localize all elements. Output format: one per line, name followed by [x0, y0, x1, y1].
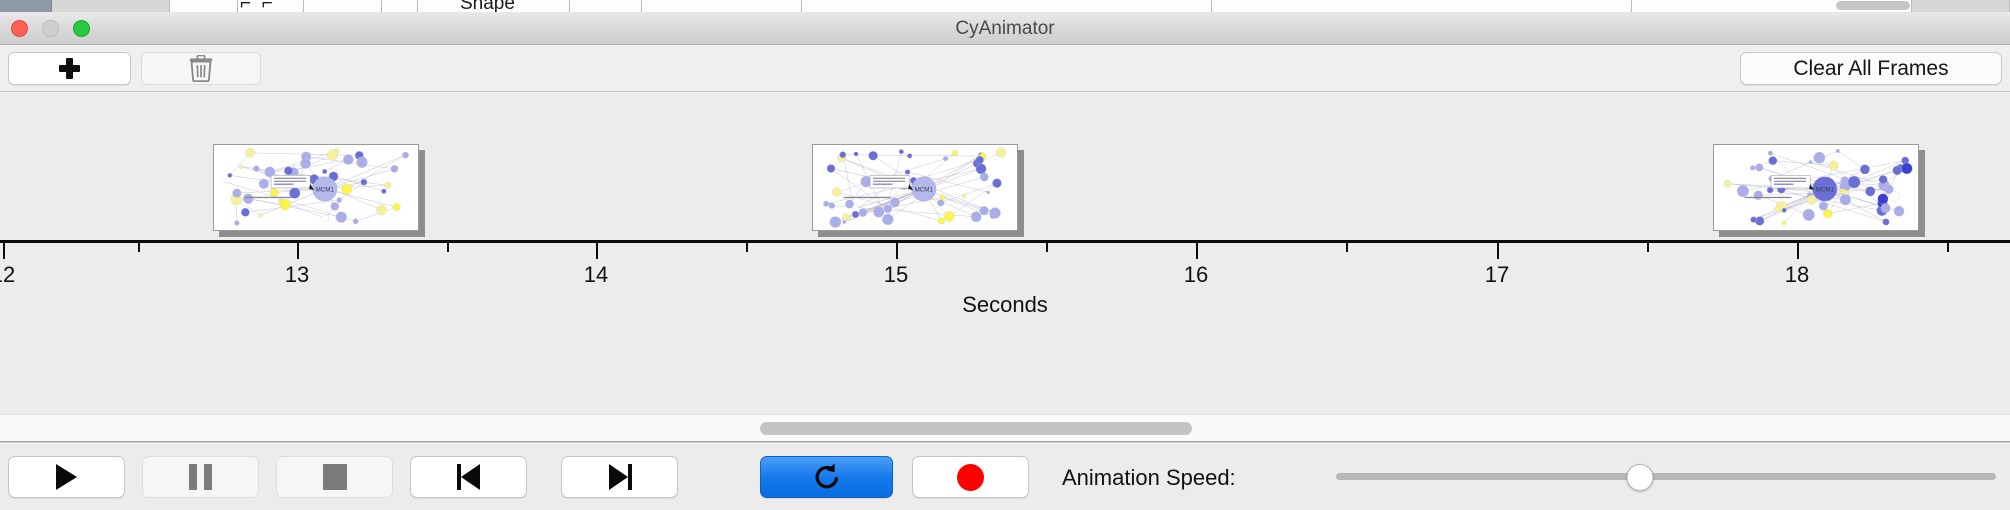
network-graph: MCM1 — [813, 145, 1017, 230]
clear-all-frames-label: Clear All Frames — [1793, 57, 1948, 81]
timeline-scrollbar-thumb[interactable] — [760, 422, 1192, 435]
network-graph: MCM1 — [214, 145, 418, 230]
animation-speed-label: Animation Speed: — [1062, 465, 1236, 491]
timeline-axis-line — [0, 240, 2010, 243]
frame-canvas: MCM1 — [213, 144, 419, 231]
title-bar: CyAnimator — [0, 12, 2010, 45]
plus-icon — [59, 58, 80, 79]
axis-tick-minor — [1647, 243, 1649, 252]
axis-title-seconds: Seconds — [0, 292, 2010, 318]
background-scrollbar — [1836, 1, 1910, 10]
pause-icon — [189, 464, 212, 490]
background-glyph-bracket: ⌐ ⌐ — [240, 0, 273, 12]
axis-tick-label: 12 — [0, 262, 15, 288]
axis-tick-label: 16 — [1184, 262, 1208, 288]
clear-all-frames-button[interactable]: Clear All Frames — [1740, 52, 2002, 85]
axis-tick-major — [1497, 243, 1499, 259]
axis-tick-major — [297, 243, 299, 259]
axis-tick-minor — [1947, 243, 1949, 252]
animation-speed-slider[interactable] — [1336, 456, 1996, 498]
frame-canvas: MCM1 — [1713, 144, 1919, 231]
play-button[interactable] — [8, 456, 125, 498]
trash-icon — [189, 55, 213, 82]
axis-tick-label: 17 — [1485, 262, 1509, 288]
background-window-label: Shape — [460, 0, 515, 12]
cyanimator-window: ⌐ ⌐ Shape CyAnimator Clear All Frames — [0, 0, 2010, 510]
frame-thumbnail-3[interactable]: MCM1 — [1713, 144, 1925, 237]
record-icon — [957, 464, 984, 491]
timeline-panel[interactable]: MCM1MCM1MCM1 12131415161718 Seconds — [0, 92, 2010, 414]
axis-tick-minor — [138, 243, 140, 252]
skip-back-icon — [457, 464, 481, 490]
svg-text:MCM1: MCM1 — [1816, 186, 1835, 193]
skip-forward-icon — [608, 464, 632, 490]
delete-frame-button[interactable] — [141, 52, 261, 85]
skip-start-button[interactable] — [410, 456, 527, 498]
background-window-strip: ⌐ ⌐ Shape — [0, 0, 2010, 12]
stop-button[interactable] — [276, 456, 393, 498]
loop-icon — [812, 462, 842, 492]
timeline-scrollbar-track[interactable] — [0, 414, 2010, 442]
axis-tick-label: 13 — [285, 262, 309, 288]
axis-tick-major — [896, 243, 898, 259]
svg-text:MCM1: MCM1 — [915, 186, 934, 193]
add-frame-button[interactable] — [8, 52, 131, 85]
frame-canvas: MCM1 — [812, 144, 1018, 231]
record-button[interactable] — [912, 456, 1029, 498]
axis-tick-minor — [1046, 243, 1048, 252]
axis-tick-minor — [447, 243, 449, 252]
slider-thumb[interactable] — [1626, 464, 1653, 491]
axis-tick-major — [596, 243, 598, 259]
axis-tick-label: 15 — [884, 262, 908, 288]
stop-icon — [323, 464, 347, 490]
skip-end-button[interactable] — [561, 456, 678, 498]
axis-tick-major — [1196, 243, 1198, 259]
slider-track[interactable] — [1336, 473, 1996, 480]
network-graph: MCM1 — [1714, 145, 1918, 230]
frame-thumbnail-1[interactable]: MCM1 — [213, 144, 425, 237]
pause-button[interactable] — [142, 456, 259, 498]
svg-text:MCM1: MCM1 — [316, 186, 335, 193]
axis-tick-major — [1797, 243, 1799, 259]
playback-toolbar: Animation Speed: — [0, 442, 2010, 510]
axis-tick-major — [3, 243, 5, 259]
play-icon — [56, 464, 77, 490]
toolbar: Clear All Frames — [0, 45, 2010, 92]
axis-tick-minor — [1346, 243, 1348, 252]
axis-tick-label: 18 — [1785, 262, 1809, 288]
frame-thumbnail-2[interactable]: MCM1 — [812, 144, 1024, 237]
loop-button[interactable] — [760, 456, 893, 498]
axis-tick-label: 14 — [584, 262, 608, 288]
axis-tick-minor — [746, 243, 748, 252]
window-title: CyAnimator — [0, 12, 2010, 45]
